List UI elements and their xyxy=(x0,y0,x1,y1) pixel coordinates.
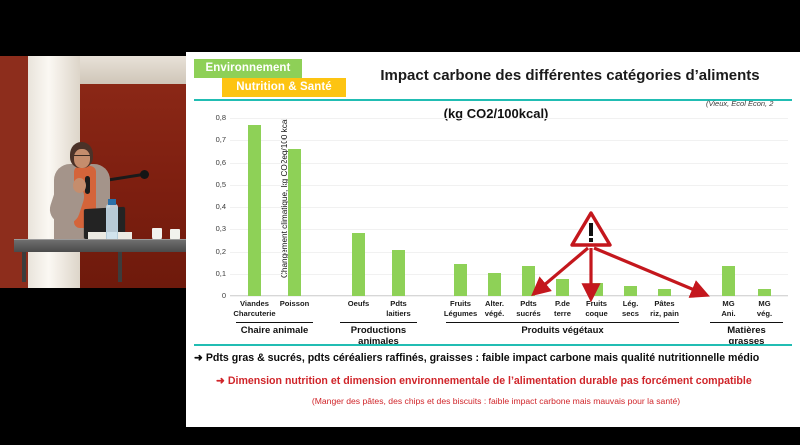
bar-3 xyxy=(352,233,365,296)
gridline xyxy=(230,207,788,208)
gridline xyxy=(230,140,788,141)
y-tick-label: 0,2 xyxy=(206,247,226,256)
glasses-icon xyxy=(74,155,90,158)
table-leg-right xyxy=(118,252,122,282)
y-tick-label: 0,1 xyxy=(206,269,226,278)
bar-9 xyxy=(590,283,603,296)
table xyxy=(14,239,186,252)
banner-environnement: Environnement xyxy=(194,59,302,78)
callout-line-red: ➜ Dimension nutrition et dimension envir… xyxy=(216,375,800,387)
y-axis-label-wrap: Changement climatique, kg CO2eq/100 kcal xyxy=(194,0,208,122)
bullet-arrow-icon-2: ➜ xyxy=(216,375,225,387)
plot-area: 00,10,20,30,40,50,60,70,8ViandesCharcute… xyxy=(230,118,788,296)
callout-divider xyxy=(194,344,792,346)
bar-13 xyxy=(758,289,771,296)
presentation-slide: Environnement Nutrition & Santé Impact c… xyxy=(186,52,800,427)
bar-label-13: MGvég. xyxy=(742,299,788,318)
bar-4 xyxy=(392,250,405,296)
callout-black-text: Pdts gras & sucrés, pdts céréaliers raff… xyxy=(206,352,759,364)
bar-1 xyxy=(248,125,261,296)
group-label-3: Produits végétaux xyxy=(446,325,679,336)
bar-2 xyxy=(288,149,301,296)
source-citation: (Vieux, Ecol Econ, 2 xyxy=(706,99,800,108)
group-underline-1 xyxy=(236,322,313,323)
y-tick-label: 0,8 xyxy=(206,113,226,122)
ceiling xyxy=(78,56,186,84)
callout-line-black: ➜ Pdts gras & sucrés, pdts céréaliers ra… xyxy=(194,352,800,364)
callout-red-text: Dimension nutrition et dimension environ… xyxy=(228,375,752,387)
bar-label-4: Pdtslaitiers xyxy=(376,299,422,318)
title-divider xyxy=(194,99,792,101)
bar-label-11: Pâtesriz, pain xyxy=(642,299,688,318)
warning-triangle-icon xyxy=(569,210,613,248)
y-tick-label: 0,7 xyxy=(206,135,226,144)
callout-block: ➜ Pdts gras & sucrés, pdts céréaliers ra… xyxy=(186,344,800,427)
bar-7 xyxy=(522,266,535,296)
bar-chart: Changement climatique, kg CO2eq/100 kcal… xyxy=(196,114,792,342)
speaker-face xyxy=(74,149,90,168)
bar-10 xyxy=(624,286,637,296)
gridline xyxy=(230,296,788,297)
video-frame xyxy=(0,56,186,288)
bottle-cap xyxy=(108,199,116,205)
gridline xyxy=(230,118,788,119)
y-tick-label: 0,4 xyxy=(206,202,226,211)
group-underline-2 xyxy=(340,322,417,323)
group-underline-3 xyxy=(446,322,679,323)
screenshot-root: Environnement Nutrition & Santé Impact c… xyxy=(0,0,800,445)
table-leg-left xyxy=(22,252,26,282)
gridline xyxy=(230,229,788,230)
bar-11 xyxy=(658,289,671,296)
y-tick-label: 0,6 xyxy=(206,158,226,167)
y-tick-label: 0,5 xyxy=(206,180,226,189)
microphone-head-icon xyxy=(140,170,149,179)
group-label-1: Chaire animale xyxy=(236,325,313,336)
bar-8 xyxy=(556,279,569,296)
speaker-hand xyxy=(73,178,86,193)
banner-nutrition-sante: Nutrition & Santé xyxy=(222,78,346,97)
callout-red-subtext: (Manger des pâtes, des chips et des bisc… xyxy=(216,396,776,406)
slide-title: Impact carbone des différentes catégorie… xyxy=(346,58,794,92)
bar-label-2: Poisson xyxy=(272,299,318,309)
gridline xyxy=(230,185,788,186)
bar-12 xyxy=(722,266,735,296)
group-underline-4 xyxy=(710,322,783,323)
gridline xyxy=(230,163,788,164)
water-bottle xyxy=(106,204,118,242)
bar-6 xyxy=(488,273,501,296)
bullet-arrow-icon-1: ➜ xyxy=(194,352,203,364)
y-tick-label: 0,3 xyxy=(206,224,226,233)
bar-5 xyxy=(454,264,467,296)
gridline xyxy=(230,274,788,275)
y-tick-label: 0 xyxy=(206,291,226,300)
gridline xyxy=(230,252,788,253)
speaker-video-pane[interactable] xyxy=(0,0,186,445)
